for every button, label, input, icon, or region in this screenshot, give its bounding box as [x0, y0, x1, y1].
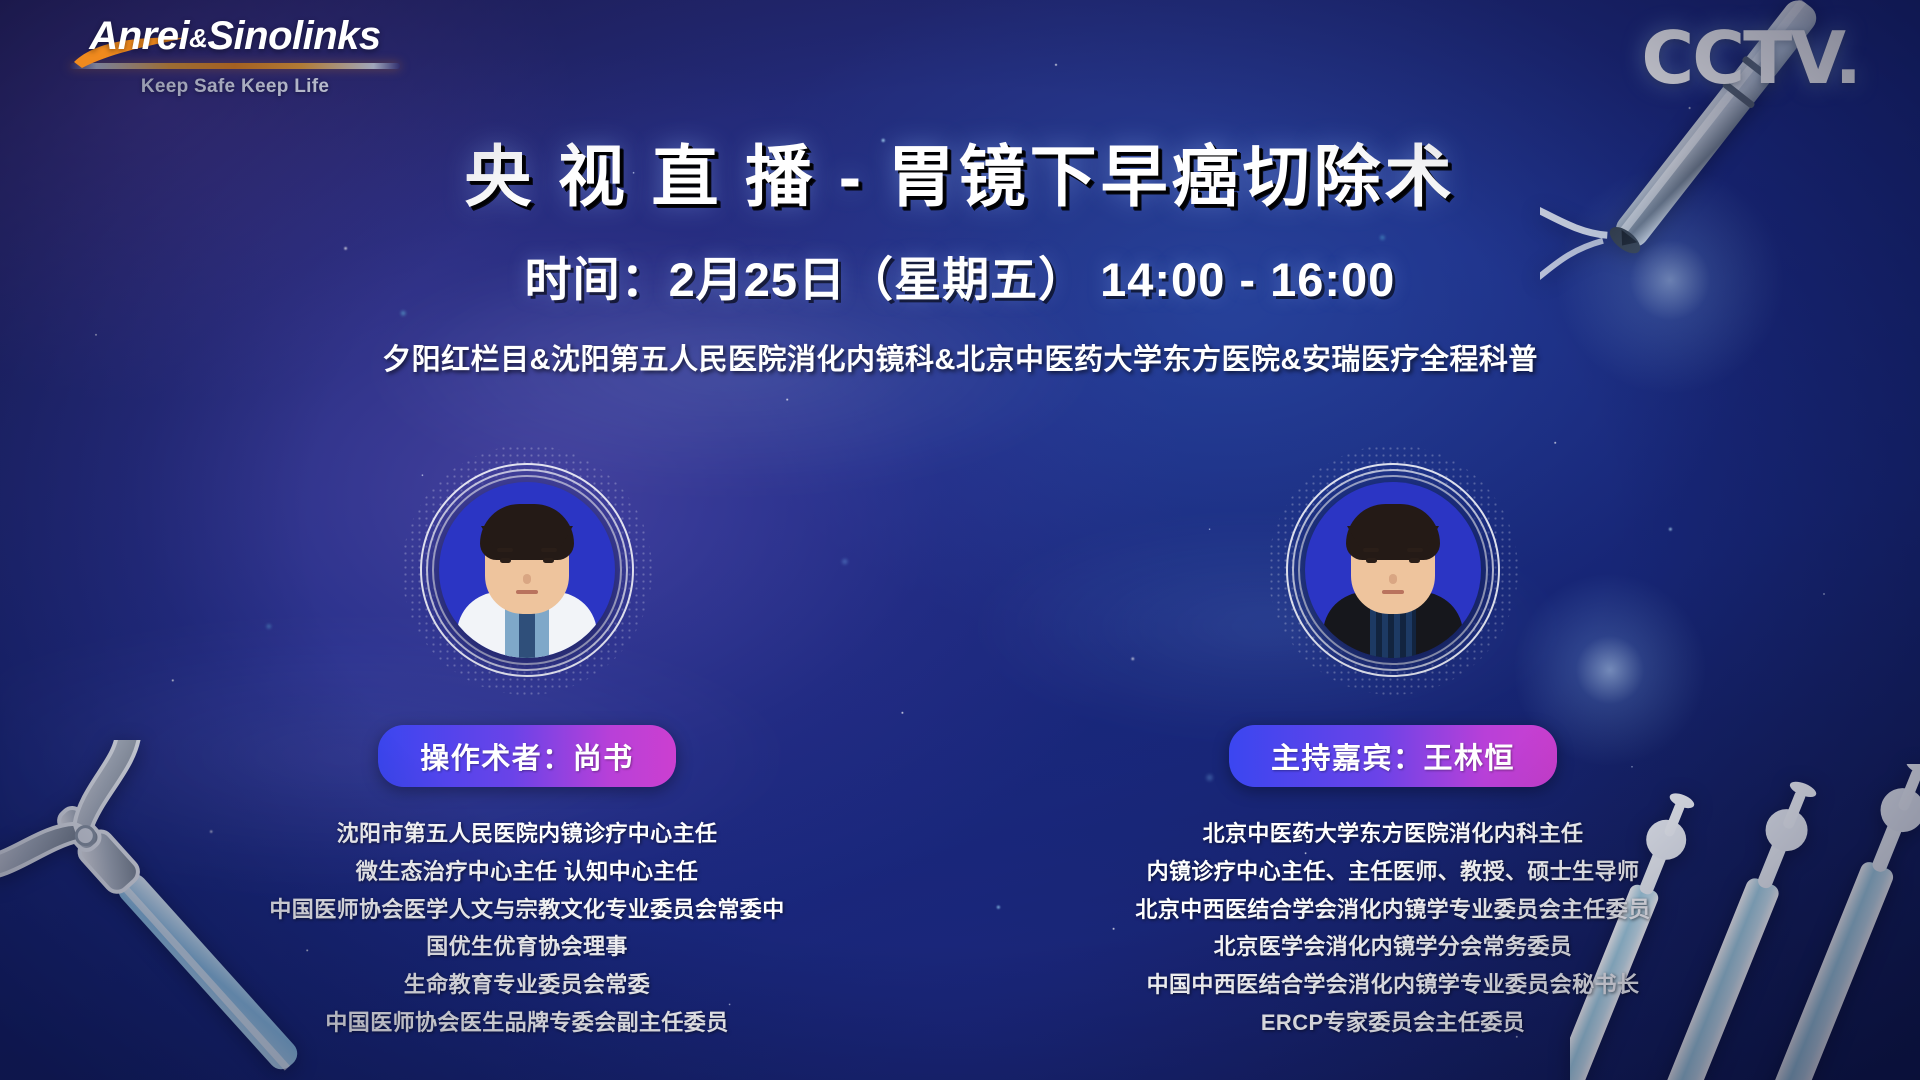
avatar [1305, 482, 1481, 658]
list-item: 北京中西医结合学会消化内镜学专业委员会主任委员 [1135, 891, 1650, 929]
brand-tagline: Keep Safe Keep Life [70, 76, 400, 98]
brand-name-part2: Sinolinks [207, 14, 380, 58]
speaker-card-host: 主持嘉宾：王林恒 北京中医药大学东方医院消化内科主任 内镜诊疗中心主任、主任医师… [1113, 462, 1673, 1042]
list-item: 中国中西医结合学会消化内镜学专业委员会秘书长 [1135, 966, 1650, 1004]
brand-logo: Anrei&Sinolinks Keep Safe Keep Life [70, 14, 400, 98]
list-item: 中国医师协会医学人文与宗教文化专业委员会常委中 [269, 891, 784, 929]
list-item: 微生态治疗中心主任 认知中心主任 [269, 853, 784, 891]
speakers-section: 操作术者：尚书 沈阳市第五人民医院内镜诊疗中心主任 微生态治疗中心主任 认知中心… [0, 462, 1920, 1042]
avatar-frame [1285, 462, 1501, 678]
cctv-logo: CCTV. [1641, 16, 1860, 100]
status-badge: 操作术者：尚书 [378, 725, 676, 787]
broadcast-time: 时间：2月25日（星期五） 14:00 - 16:00 [0, 241, 1920, 310]
avatar-frame [419, 462, 635, 678]
livestream-poster: Anrei&Sinolinks Keep Safe Keep Life CCTV… [0, 0, 1920, 1080]
headline-block: 央 视 直 播 - 胃镜下早癌切除术 时间：2月25日（星期五） 14:00 -… [0, 140, 1920, 378]
page-title: 央 视 直 播 - 胃镜下早癌切除术 [0, 140, 1920, 215]
list-item: 沈阳市第五人民医院内镜诊疗中心主任 [269, 815, 784, 853]
brand-name-part1: Anrei [89, 14, 189, 58]
list-item: 内镜诊疗中心主任、主任医师、教授、硕士生导师 [1135, 853, 1650, 891]
brand-ampersand: & [189, 23, 207, 53]
list-item: 国优生优育协会理事 [269, 928, 784, 966]
credentials-list: 沈阳市第五人民医院内镜诊疗中心主任 微生态治疗中心主任 认知中心主任 中国医师协… [269, 815, 784, 1042]
list-item: 中国医师协会医生品牌专委会副主任委员 [269, 1004, 784, 1042]
list-item: 北京医学会消化内镜学分会常务委员 [1135, 928, 1650, 966]
list-item: ERCP专家委员会主任委员 [1135, 1004, 1650, 1042]
list-item: 生命教育专业委员会常委 [269, 966, 784, 1004]
brand-wordmark: Anrei&Sinolinks [70, 14, 400, 59]
organizers-line: 夕阳红栏目&沈阳第五人民医院消化内镜科&北京中医药大学东方医院&安瑞医疗全程科普 [0, 336, 1920, 378]
status-badge: 主持嘉宾：王林恒 [1229, 725, 1557, 787]
credentials-list: 北京中医药大学东方医院消化内科主任 内镜诊疗中心主任、主任医师、教授、硕士生导师… [1135, 815, 1650, 1042]
avatar [439, 482, 615, 658]
speaker-card-operator: 操作术者：尚书 沈阳市第五人民医院内镜诊疗中心主任 微生态治疗中心主任 认知中心… [247, 462, 807, 1042]
list-item: 北京中医药大学东方医院消化内科主任 [1135, 815, 1650, 853]
